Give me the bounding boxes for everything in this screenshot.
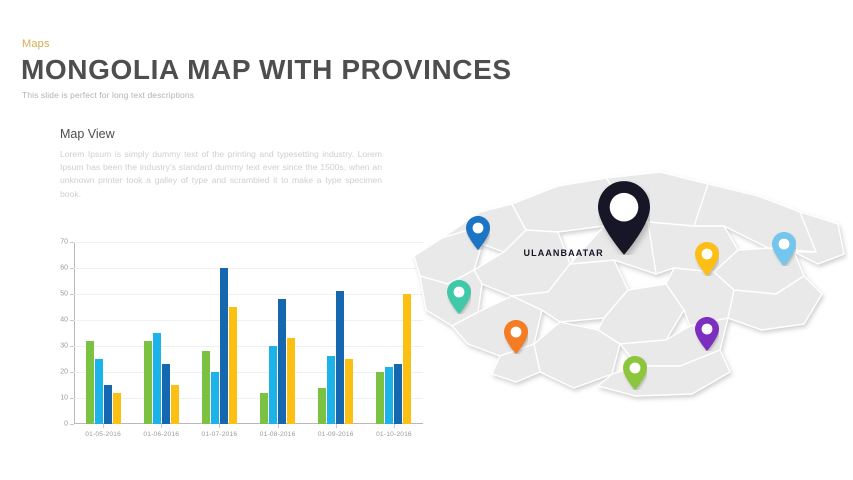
map-view-body: Lorem Ipsum is simply dummy text of the … (60, 148, 382, 201)
chart-bar-group: 01-07-2016 (190, 242, 248, 424)
chart-bar (86, 341, 94, 424)
chart-y-tick-label: 40 (60, 317, 68, 324)
chart-bar (95, 359, 103, 424)
eyebrow-label: Maps (22, 38, 50, 50)
pin-lightblue-icon[interactable] (772, 232, 796, 266)
chart-x-tick-mark (103, 424, 104, 428)
chart-y-tick-mark (70, 424, 74, 425)
chart-y-tick-label: 20 (60, 369, 68, 376)
chart-bar (278, 299, 286, 424)
chart-y-tick-label: 10 (60, 395, 68, 402)
page-title: MONGOLIA MAP WITH PROVINCES (21, 54, 512, 86)
pin-green-icon[interactable] (623, 356, 647, 390)
pin-yellow-icon[interactable] (695, 242, 719, 276)
chart-y-tick-label: 70 (60, 239, 68, 246)
chart-x-tick-label: 01-09-2016 (318, 431, 354, 438)
chart-x-tick-label: 01-07-2016 (202, 431, 238, 438)
page-subtitle: This slide is perfect for long text desc… (22, 90, 194, 100)
chart-bar-group: 01-06-2016 (132, 242, 190, 424)
pin-purple-icon[interactable] (695, 317, 719, 351)
bar-chart: 010203040506070 01-05-201601-06-201601-0… (40, 238, 425, 450)
chart-y-tick-label: 60 (60, 265, 68, 272)
chart-bar-group: 01-08-2016 (249, 242, 307, 424)
pin-teal-icon[interactable] (447, 280, 471, 314)
chart-x-tick-label: 01-08-2016 (260, 431, 296, 438)
chart-plot-area: 010203040506070 01-05-201601-06-201601-0… (74, 242, 423, 424)
chart-x-tick-label: 01-06-2016 (143, 431, 179, 438)
chart-bar (327, 356, 335, 424)
chart-y-tick-label: 30 (60, 343, 68, 350)
chart-bar (376, 372, 384, 424)
chart-bar (153, 333, 161, 424)
chart-bar (318, 388, 326, 424)
chart-y-tick-label: 0 (64, 421, 68, 428)
capital-label: ULAANBAATAR (524, 248, 604, 258)
chart-x-tick-label: 01-10-2016 (376, 431, 412, 438)
mongolia-map: ULAANBAATAR (408, 160, 848, 410)
chart-x-tick-mark (336, 424, 337, 428)
pin-capital-icon[interactable] (598, 181, 650, 255)
chart-bar (171, 385, 179, 424)
chart-bar-group: 01-09-2016 (307, 242, 365, 424)
chart-bar (162, 364, 170, 424)
chart-bar (287, 338, 295, 424)
pin-blue-icon[interactable] (466, 216, 490, 250)
chart-y-tick-label: 50 (60, 291, 68, 298)
chart-bar (211, 372, 219, 424)
chart-bar-group: 01-05-2016 (74, 242, 132, 424)
chart-bar (104, 385, 112, 424)
chart-bar (336, 291, 344, 424)
chart-bar (385, 367, 393, 424)
map-view-heading: Map View (60, 127, 115, 141)
chart-bar (144, 341, 152, 424)
chart-x-tick-mark (219, 424, 220, 428)
pin-orange-icon[interactable] (504, 320, 528, 354)
chart-bar (260, 393, 268, 424)
chart-bar (345, 359, 353, 424)
chart-bar (394, 364, 402, 424)
chart-x-tick-mark (278, 424, 279, 428)
chart-bar-groups: 01-05-201601-06-201601-07-201601-08-2016… (74, 242, 423, 424)
chart-x-tick-label: 01-05-2016 (85, 431, 121, 438)
chart-bar (229, 307, 237, 424)
chart-bar (269, 346, 277, 424)
chart-x-tick-mark (161, 424, 162, 428)
chart-bar (113, 393, 121, 424)
chart-bar (202, 351, 210, 424)
chart-gridline (74, 424, 423, 425)
chart-x-tick-mark (394, 424, 395, 428)
chart-bar (220, 268, 228, 424)
